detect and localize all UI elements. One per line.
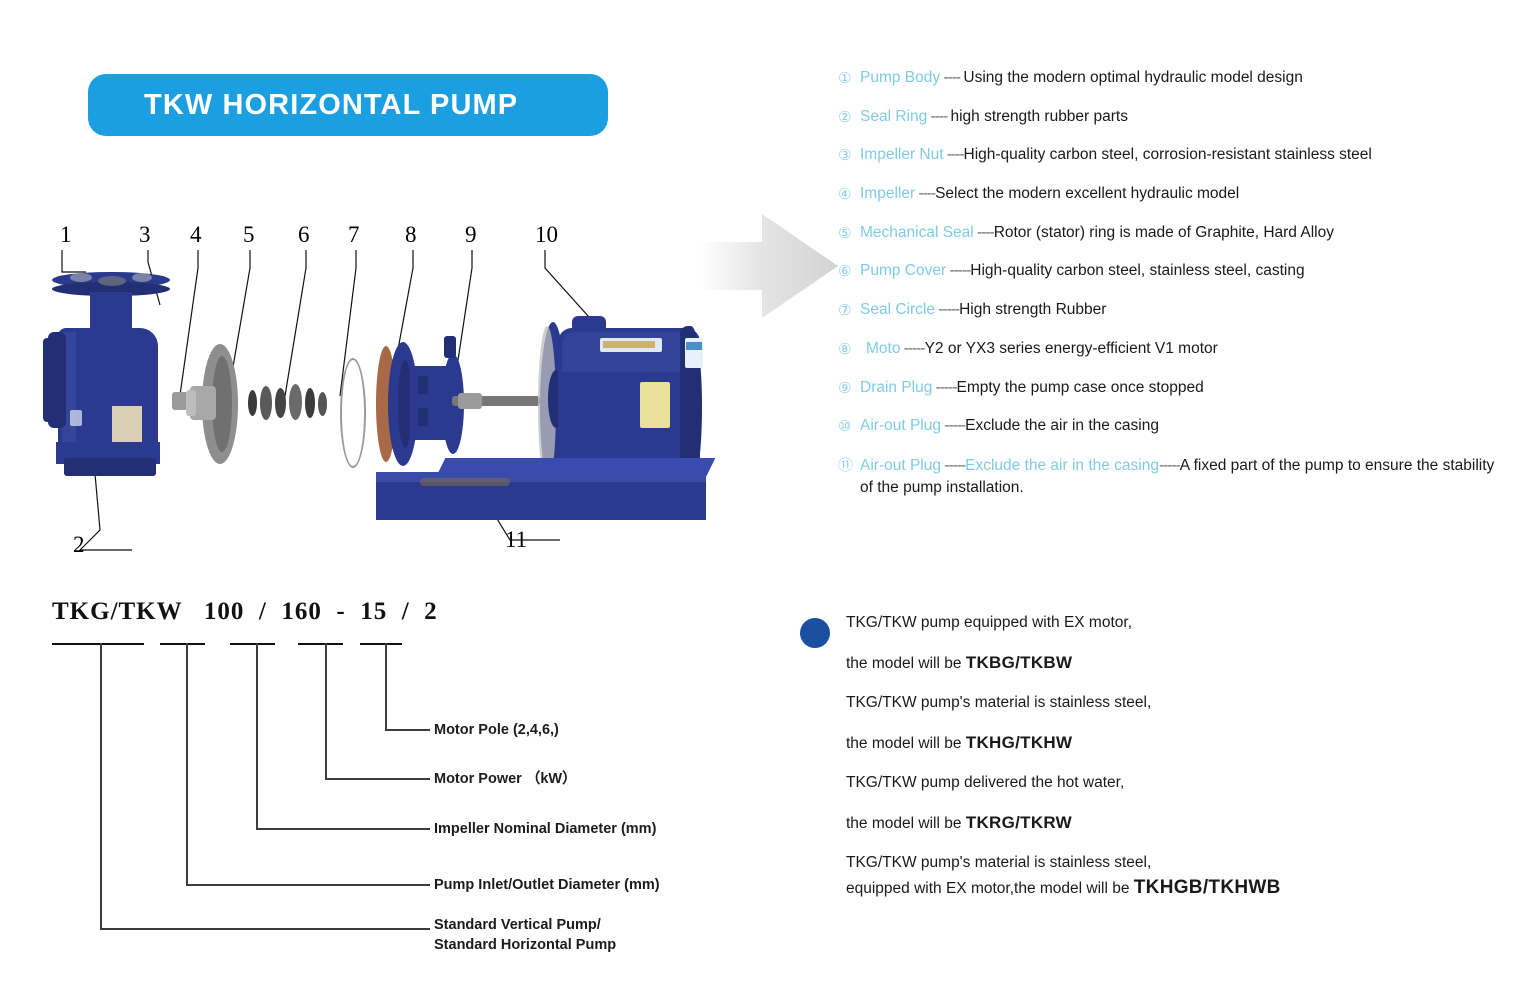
nom-leader-vert-2: [186, 643, 188, 884]
arrow-right-icon: [700, 212, 840, 320]
nom-label-inlet-diameter: Pump Inlet/Outlet Diameter (mm): [434, 876, 660, 896]
nom-underline-1: [52, 643, 144, 645]
legend-number-icon-11: ⑪: [838, 455, 860, 475]
nom-underline-5: [360, 643, 402, 645]
note-text-4: the model will be: [846, 735, 966, 752]
legend-desc-1: Using the modern optimal hydraulic model…: [963, 69, 1302, 86]
legend-dash2-11: -----: [1159, 457, 1180, 474]
note-text-5: TKG/TKW pump delivered the hot water,: [846, 774, 1124, 791]
nom-leader-horiz-5: [385, 729, 430, 731]
nom-label-motor-power: Motor Power （kW）: [434, 770, 577, 790]
legend-part-name-9: Drain Plug: [860, 379, 932, 396]
exploded-pump-diagram: 1 3 4 5 6 7 8 9 10 2 11: [40, 210, 700, 570]
legend-desc-6: High-quality carbon steel, stainless ste…: [970, 262, 1304, 279]
note-text-3: TKG/TKW pump's material is stainless ste…: [846, 694, 1151, 711]
legend-part-name-5: Mechanical Seal: [860, 224, 974, 241]
page-title-banner: TKW HORIZONTAL PUMP: [88, 74, 608, 136]
legend-number-icon-4: ④: [838, 184, 860, 204]
nom-label-impeller-diameter: Impeller Nominal Diameter (mm): [434, 820, 656, 840]
nom-leader-vert-4: [325, 643, 327, 778]
legend-dash-11: -----: [941, 457, 965, 474]
legend-number-icon-2: ②: [838, 107, 860, 127]
parts-legend-list: ① Pump Body ---- Using the modern optima…: [838, 68, 1503, 517]
legend-number-icon-7: ⑦: [838, 300, 860, 320]
legend-dash-3: ----: [944, 146, 964, 163]
legend-dash-8: -----: [900, 340, 924, 357]
note-text-2: the model will be: [846, 655, 966, 672]
nom-label-standard-pump-line2: Standard Horizontal Pump: [434, 936, 616, 956]
legend-dash-1: ----: [940, 69, 963, 86]
legend-part-name-4: Impeller: [860, 185, 915, 202]
legend-item-8: ⑧ Moto -----Y2 or YX3 series energy-effi…: [838, 339, 1503, 359]
page-title: TKW HORIZONTAL PUMP: [88, 89, 518, 122]
legend-dash-2: ----: [927, 108, 950, 125]
note-line-1: TKG/TKW pump equipped with EX motor,: [846, 614, 1420, 632]
nom-leader-horiz-1: [100, 928, 430, 930]
note-text-7: TKG/TKW pump's material is stainless ste…: [846, 854, 1151, 871]
nom-label-standard-pump-line1: Standard Vertical Pump/: [434, 916, 616, 936]
legend-part-name-3: Impeller Nut: [860, 146, 944, 163]
note-text-1: TKG/TKW pump equipped with EX motor,: [846, 614, 1132, 631]
model-nomenclature-diagram: TKG/TKW 100 / 160 - 15 / 2 Motor Pole (2…: [40, 598, 740, 958]
legend-dash-5: ----: [974, 224, 994, 241]
legend-dash-7: -----: [935, 301, 959, 318]
note-line-2: the model will be TKBG/TKBW: [846, 653, 1420, 673]
legend-number-icon-10: ⑩: [838, 416, 860, 436]
nom-label-motor-pole: Motor Pole (2,4,6,): [434, 721, 559, 741]
legend-number-icon-5: ⑤: [838, 223, 860, 243]
nom-leader-vert-3: [256, 643, 258, 828]
legend-desc-blue-11: Exclude the air in the casing: [965, 457, 1159, 474]
note-line-5: TKG/TKW pump delivered the hot water,: [846, 774, 1420, 792]
legend-number-icon-1: ①: [838, 68, 860, 88]
legend-part-name-1: Pump Body: [860, 69, 940, 86]
legend-number-icon-8: ⑧: [838, 339, 860, 359]
model-code-text: TKG/TKW 100 / 160 - 15 / 2: [52, 598, 438, 626]
legend-dash-9: -----: [932, 379, 956, 396]
nom-leader-horiz-4: [325, 778, 430, 780]
model-variant-notes: TKG/TKW pump equipped with EX motor, the…: [800, 614, 1420, 920]
legend-part-name-7: Seal Circle: [860, 301, 935, 318]
legend-dash-6: -----: [946, 262, 970, 279]
legend-desc-10: Exclude the air in the casing: [965, 417, 1159, 434]
nom-underline-4: [298, 643, 343, 645]
legend-item-10: ⑩ Air-out Plug -----Exclude the air in t…: [838, 416, 1503, 436]
nom-leader-horiz-3: [256, 828, 430, 830]
legend-dash-4: ----: [915, 185, 935, 202]
nom-label-standard-pump: Standard Vertical Pump/ Standard Horizon…: [434, 916, 616, 955]
nom-leader-horiz-2: [186, 884, 430, 886]
legend-part-name-8: Moto: [860, 340, 900, 357]
note-line-3: TKG/TKW pump's material is stainless ste…: [846, 694, 1420, 712]
note-model-tkhgb-tkhwb: TKHGB/TKHWB: [1134, 877, 1281, 898]
legend-part-name-6: Pump Cover: [860, 262, 946, 279]
legend-desc-9: Empty the pump case once stopped: [957, 379, 1204, 396]
legend-desc-7: High strength Rubber: [959, 301, 1106, 318]
legend-number-icon-9: ⑨: [838, 378, 860, 398]
legend-item-9: ⑨ Drain Plug -----Empty the pump case on…: [838, 378, 1503, 398]
note-line-8: equipped with EX motor,the model will be…: [846, 877, 1420, 899]
legend-number-icon-6: ⑥: [838, 261, 860, 281]
legend-item-11: ⑪ Air-out Plug -----Exclude the air in t…: [838, 455, 1503, 499]
legend-part-name-11: Air-out Plug: [860, 457, 941, 474]
note-model-tkrg-tkrw: TKRG/TKRW: [966, 813, 1072, 832]
note-text-6: the model will be: [846, 815, 966, 832]
note-model-tkhg-tkhw: TKHG/TKHW: [966, 733, 1073, 752]
legend-item-1: ① Pump Body ---- Using the modern optima…: [838, 68, 1503, 88]
legend-dash-10: -----: [941, 417, 965, 434]
bullet-circle-icon: [800, 618, 830, 648]
legend-item-2: ② Seal Ring ---- high strength rubber pa…: [838, 107, 1503, 127]
legend-desc-3: High-quality carbon steel, corrosion-res…: [964, 146, 1372, 163]
note-model-tkbg-tkbw: TKBG/TKBW: [966, 653, 1073, 672]
legend-desc-8: Y2 or YX3 series energy-efficient V1 mot…: [925, 340, 1218, 357]
nom-underline-2: [160, 643, 205, 645]
nom-leader-vert-1: [100, 643, 102, 928]
legend-number-icon-3: ③: [838, 145, 860, 165]
note-line-7: TKG/TKW pump's material is stainless ste…: [846, 854, 1420, 872]
note-line-4: the model will be TKHG/TKHW: [846, 733, 1420, 753]
legend-item-4: ④ Impeller ----Select the modern excelle…: [838, 184, 1503, 204]
legend-item-5: ⑤ Mechanical Seal ----Rotor (stator) rin…: [838, 223, 1503, 243]
legend-desc-5: Rotor (stator) ring is made of Graphite,…: [994, 224, 1334, 241]
legend-item-3: ③ Impeller Nut ----High-quality carbon s…: [838, 145, 1503, 165]
legend-desc-2: high strength rubber parts: [950, 108, 1128, 125]
nom-underline-3: [230, 643, 275, 645]
legend-part-name-10: Air-out Plug: [860, 417, 941, 434]
nom-leader-vert-5: [385, 643, 387, 729]
legend-item-7: ⑦ Seal Circle -----High strength Rubber: [838, 300, 1503, 320]
legend-desc-4: Select the modern excellent hydraulic mo…: [935, 185, 1239, 202]
note-line-6: the model will be TKRG/TKRW: [846, 813, 1420, 833]
legend-part-name-2: Seal Ring: [860, 108, 927, 125]
note-text-8: equipped with EX motor,the model will be: [846, 880, 1134, 897]
legend-item-6: ⑥ Pump Cover -----High-quality carbon st…: [838, 261, 1503, 281]
